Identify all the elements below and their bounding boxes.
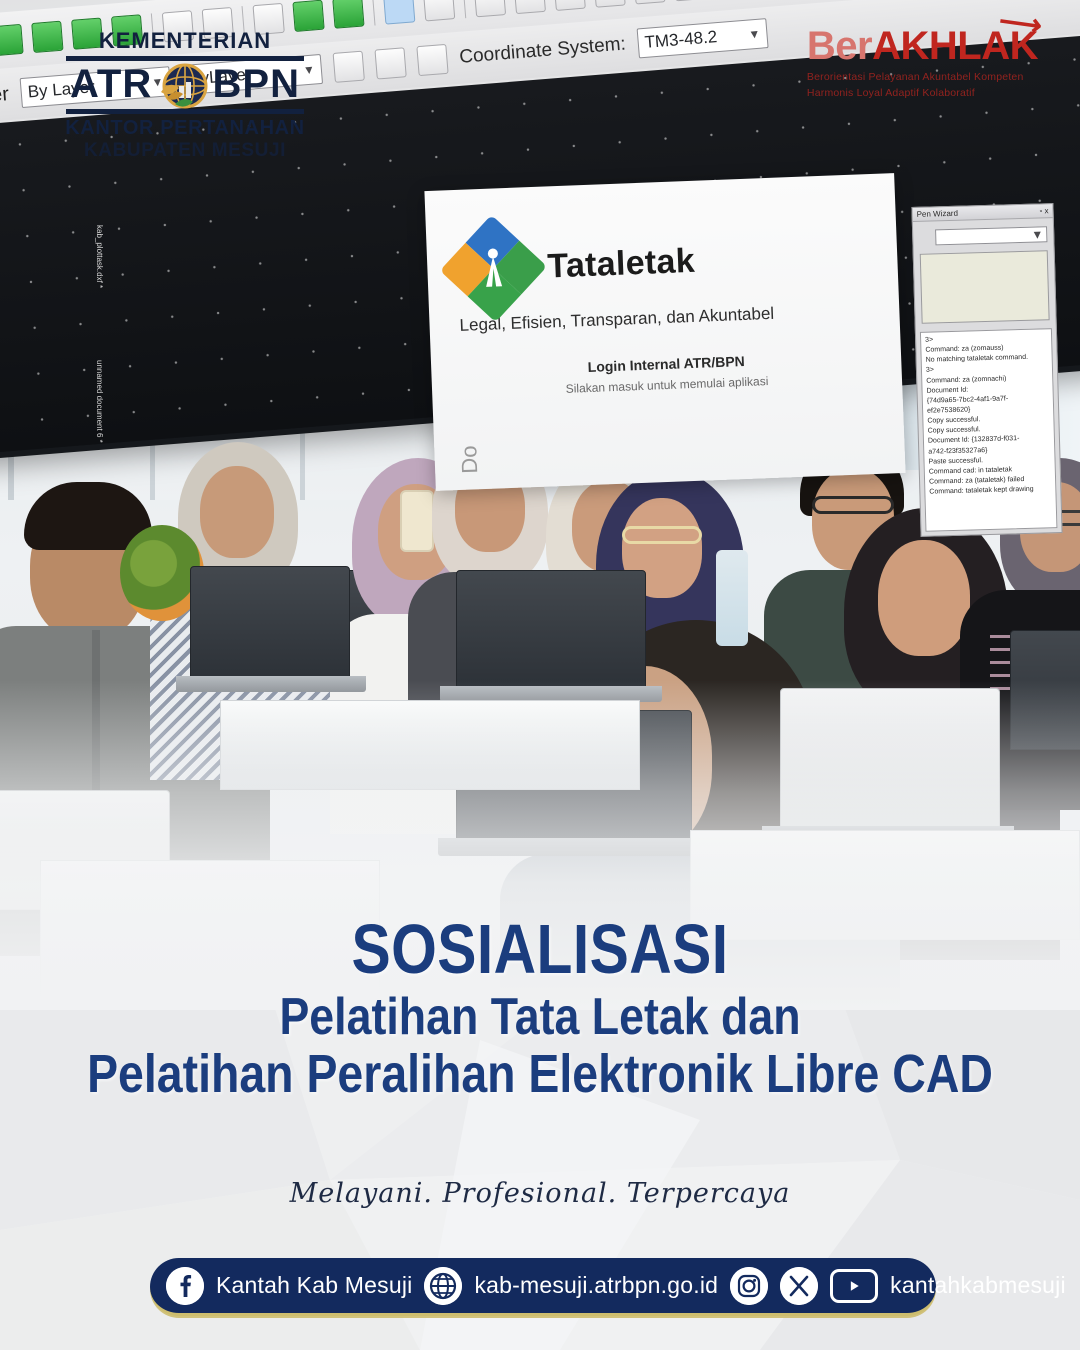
page-subtitle-1: Pelatihan Tata Letak dan <box>76 990 1005 1045</box>
zoom-area-icon[interactable] <box>673 0 705 1</box>
logo-abbr-bpn: BPN <box>213 62 300 107</box>
document-tab[interactable]: unnamed document 6 * <box>0 360 104 443</box>
close-icon[interactable]: x <box>1044 206 1048 215</box>
cad-menu-options[interactable]: Options <box>0 0 31 6</box>
coordinate-system-label: Coordinate System: <box>459 34 627 69</box>
youtube-icon[interactable] <box>830 1269 878 1303</box>
berakhlak-wordmark: BerAKHLAK ⟶ <box>807 24 1038 69</box>
pen-wizard-select[interactable]: ▼ <box>935 226 1047 245</box>
globe-emblem-icon <box>157 58 213 114</box>
layer-label: Layer <box>0 83 10 110</box>
node-add-icon[interactable] <box>554 0 586 11</box>
grid-snap-icon[interactable] <box>383 0 415 25</box>
chevron-down-icon: ▼ <box>748 27 761 42</box>
youtube-handle[interactable]: kantahkabmesuji <box>890 1272 1066 1299</box>
page-title: SOSIALISASI <box>86 915 993 984</box>
berakhlak-subtitle-1: Berorientasi Pelayanan Akuntabel Kompete… <box>807 71 1038 85</box>
atr-bpn-logo: KEMENTERIAN ATR BPN KANTOR PERTANAHAN KA… <box>60 28 310 162</box>
title-block: SOSIALISASI Pelatihan Tata Letak dan Pel… <box>0 915 1080 1103</box>
person-icon[interactable] <box>633 0 665 5</box>
globe-icon[interactable] <box>424 1267 462 1305</box>
glasses <box>622 526 702 544</box>
pen-wizard-preview <box>920 250 1050 324</box>
instagram-icon[interactable] <box>730 1267 768 1305</box>
coordinate-system-select[interactable]: TM3-48.2 ▼ <box>637 18 769 58</box>
logo-region-text: KABUPATEN MESUJI <box>60 140 310 162</box>
page-subtitle-2: Pelatihan Peralihan Elektronik Libre CAD <box>76 1046 1005 1103</box>
pen-wizard-panel[interactable]: Pen Wizard ▫ x ▼ 3> Command: za (zomauss… <box>911 203 1062 537</box>
tataletak-doc-label: Do <box>456 445 483 474</box>
command-log[interactable]: 3> Command: za (zomauss) No matching tat… <box>920 328 1058 532</box>
minimize-icon[interactable]: ▫ <box>1039 206 1042 215</box>
facebook-handle[interactable]: Kantah Kab Mesuji <box>216 1272 412 1299</box>
survey-point-icon[interactable] <box>333 51 365 83</box>
pen-wizard-titlebar[interactable]: Pen Wizard ▫ x <box>912 204 1052 222</box>
logo-abbr-atr: ATR <box>70 62 152 107</box>
layer-visibility-icon[interactable] <box>0 24 24 56</box>
berakhlak-subtitle-2: Harmonis Loyal Adaptif Kolaboratif <box>807 87 1038 101</box>
motto-text: Melayani. Profesional. Terpercaya <box>0 1178 1080 1209</box>
node-move-icon[interactable] <box>514 0 546 14</box>
export-icon[interactable] <box>416 44 448 76</box>
coordinate-system-value: TM3-48.2 <box>644 27 718 53</box>
berakhlak-logo: BerAKHLAK ⟶ Berorientasi Pelayanan Akunt… <box>807 24 1038 101</box>
pen-wizard-title: Pen Wizard <box>917 209 959 219</box>
topology-icon[interactable] <box>593 0 625 8</box>
toolbar-divider <box>463 0 466 18</box>
berakhlak-word-ber: Ber <box>807 24 872 68</box>
pencil-icon[interactable] <box>423 0 455 21</box>
mobile-phone <box>400 490 434 552</box>
log-line: Command: tataletak kept drawing <box>929 484 1051 498</box>
tataletak-title: Tataletak <box>547 241 696 286</box>
facebook-icon[interactable] <box>166 1267 204 1305</box>
chevron-down-icon: ▼ <box>1031 227 1043 241</box>
logo-office-text: KANTOR PERTANAHAN <box>60 117 310 140</box>
book-add-icon[interactable] <box>332 0 364 29</box>
toolbar-divider <box>372 0 375 26</box>
chevron-right-icon: ⟶ <box>997 3 1044 44</box>
tataletak-window[interactable]: Tataletak Legal, Efisien, Transparan, da… <box>424 173 905 491</box>
measure-icon[interactable] <box>474 0 506 17</box>
layer-copy-icon[interactable] <box>31 21 63 53</box>
document-tab[interactable]: kab_plottask.dxf * <box>0 225 104 288</box>
water-bottle <box>716 550 748 646</box>
x-twitter-icon[interactable] <box>780 1267 818 1305</box>
logo-rule-bottom <box>66 109 304 114</box>
poster-canvas: Options Edit View Tools Widgets Drawings… <box>0 0 1080 1350</box>
document-list-icon[interactable] <box>374 47 406 79</box>
website-url[interactable]: kab-mesuji.atrbpn.go.id <box>474 1272 718 1299</box>
logo-ministry-text: KEMENTERIAN <box>60 28 310 54</box>
social-footer-bar: Kantah Kab Mesuji kab-mesuji.atrbpn.go.i… <box>150 1258 936 1316</box>
